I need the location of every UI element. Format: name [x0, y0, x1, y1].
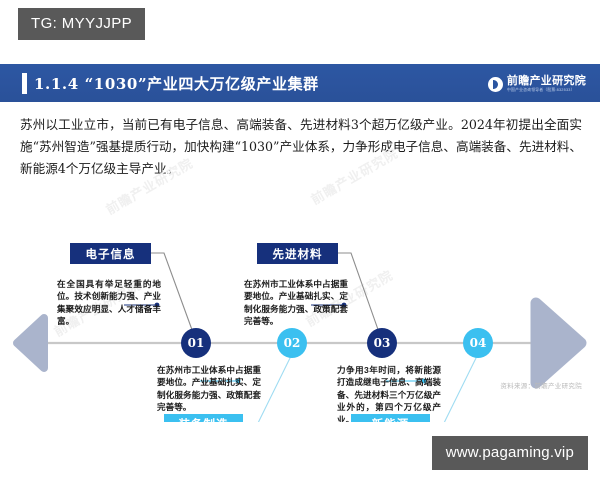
logo-name: 前瞻产业研究院 [507, 76, 586, 87]
chip-equipment-manufacturing[interactable]: 装备制造 [164, 414, 243, 422]
slide-canvas: 1.1.4 “1030”产业四大万亿级产业集群 前瞻产业研究院 中国产业咨询领导… [0, 58, 600, 422]
slide-header-bar: 1.1.4 “1030”产业四大万亿级产业集群 前瞻产业研究院 中国产业咨询领导… [0, 64, 600, 102]
description-equipment-manufacturing: 在苏州市工业体系中占据重要地位。产业基础扎实、定制化服务能力强、政策配套完善等。 [157, 364, 261, 414]
logo-mark-icon [488, 77, 503, 92]
logo-subtitle: 中国产业咨询领导者（股票:832533） [507, 87, 583, 93]
page-title: 1.1.4 “1030”产业四大万亿级产业集群 [34, 74, 319, 94]
chip-advanced-materials[interactable]: 先进材料 [257, 243, 338, 264]
body-paragraph: 苏州以工业立市，当前已有电子信息、高端装备、先进材料3个超万亿级产业。2024年… [20, 114, 582, 180]
description-advanced-materials: 在苏州市工业体系中占据重要地位。产业基础扎实、定制化服务能力强、政策配套完善等。 [244, 278, 348, 328]
source-note: 资料来源：前瞻产业研究院 [500, 380, 582, 390]
tg-watermark-badge: TG: MYYJJPP [18, 8, 145, 40]
timeline-node-02[interactable]: 02 [277, 328, 307, 358]
url-watermark-badge: www.pagaming.vip [432, 436, 588, 470]
chip-electronic-information[interactable]: 电子信息 [70, 243, 151, 264]
timeline-node-03[interactable]: 03 [367, 328, 397, 358]
description-new-energy: 力争用3年时间，将新能源打造成继电子信息、高端装备、先进材料三个万亿级产业外的，… [337, 364, 441, 422]
description-electronic-information: 在全国具有举足轻重的地位。技术创新能力强、产业集聚效应明显、人才储备丰富。 [57, 278, 161, 328]
title-accent-bar [22, 73, 27, 94]
brand-logo: 前瞻产业研究院 中国产业咨询领导者（股票:832533） [488, 75, 586, 94]
timeline-node-01[interactable]: 01 [181, 328, 211, 358]
timeline-node-04[interactable]: 04 [463, 328, 493, 358]
